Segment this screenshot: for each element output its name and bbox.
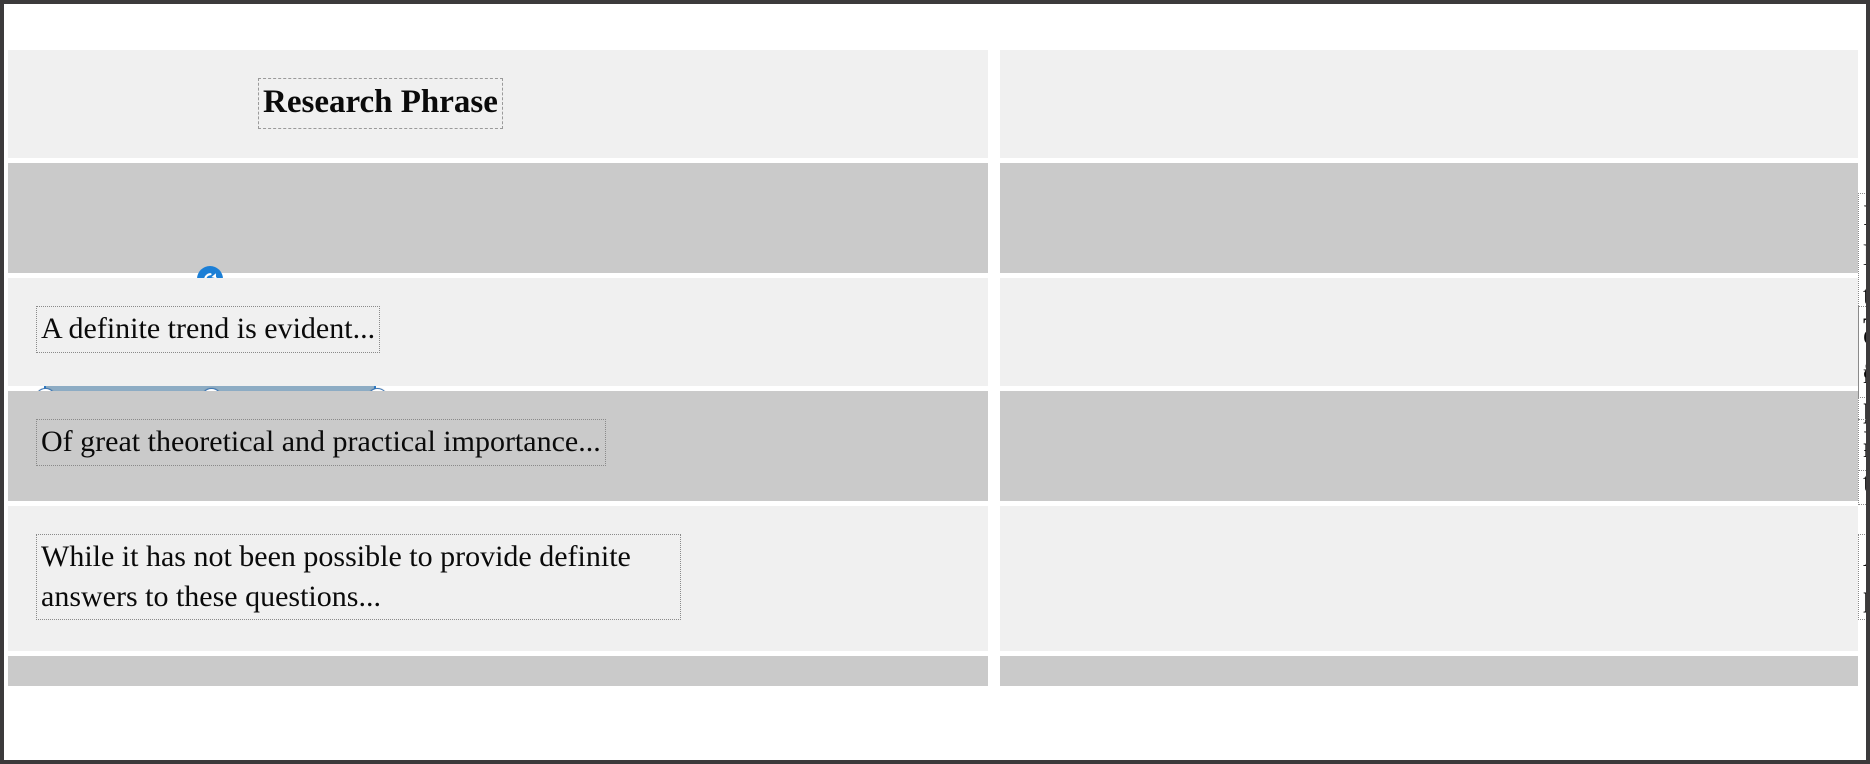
textbox-phrase-3[interactable]: Of great theoretical and practical impor…	[36, 419, 606, 466]
table-row-partial	[8, 656, 1862, 686]
table-row: It has long been known... I didn't look …	[8, 163, 1862, 273]
cell-phrase-5[interactable]	[8, 656, 988, 686]
textbox-phrase-2[interactable]: A definite trend is evident...	[36, 306, 380, 353]
cell-translation-2[interactable]: These data are are practically meaningle…	[1000, 278, 1858, 386]
header-cell-research-phrase[interactable]: Research Phrase	[8, 50, 988, 158]
cell-phrase-2[interactable]: A definite trend is evident...	[8, 278, 988, 386]
textbox-phrase-4[interactable]: While it has not been possible to provid…	[36, 534, 681, 620]
cell-phrase-1[interactable]: It has long been known...	[8, 163, 988, 273]
table-row: A definite trend is evident... These dat…	[8, 278, 1862, 386]
cell-phrase-3[interactable]: Of great theoretical and practical impor…	[8, 391, 988, 501]
table-row: While it has not been possible to provid…	[8, 506, 1862, 651]
slide-canvas: Research Phrase Translation I	[4, 4, 1866, 760]
header-cell-translation[interactable]: Translation	[1000, 50, 1858, 158]
table-row: Of great theoretical and practical impor…	[8, 391, 1862, 501]
textbox-translation-3[interactable]: Interesting to me.	[1858, 419, 1866, 505]
table-header-row: Research Phrase Translation	[8, 50, 1862, 158]
header-label-research-phrase[interactable]: Research Phrase	[258, 78, 503, 129]
cell-translation-1[interactable]: I didn't look up the original reference.	[1000, 163, 1858, 273]
phrase-translation-table: Research Phrase Translation I	[8, 50, 1862, 686]
cell-translation-3[interactable]: Interesting to me.	[1000, 391, 1858, 501]
cell-phrase-4[interactable]: While it has not been possible to provid…	[8, 506, 988, 651]
cell-translation-4[interactable]: An unsuccessful experiment, but I still …	[1000, 506, 1858, 651]
textbox-translation-4[interactable]: An unsuccessful experiment, but I still …	[1858, 534, 1866, 620]
cell-translation-5[interactable]	[1000, 656, 1858, 686]
